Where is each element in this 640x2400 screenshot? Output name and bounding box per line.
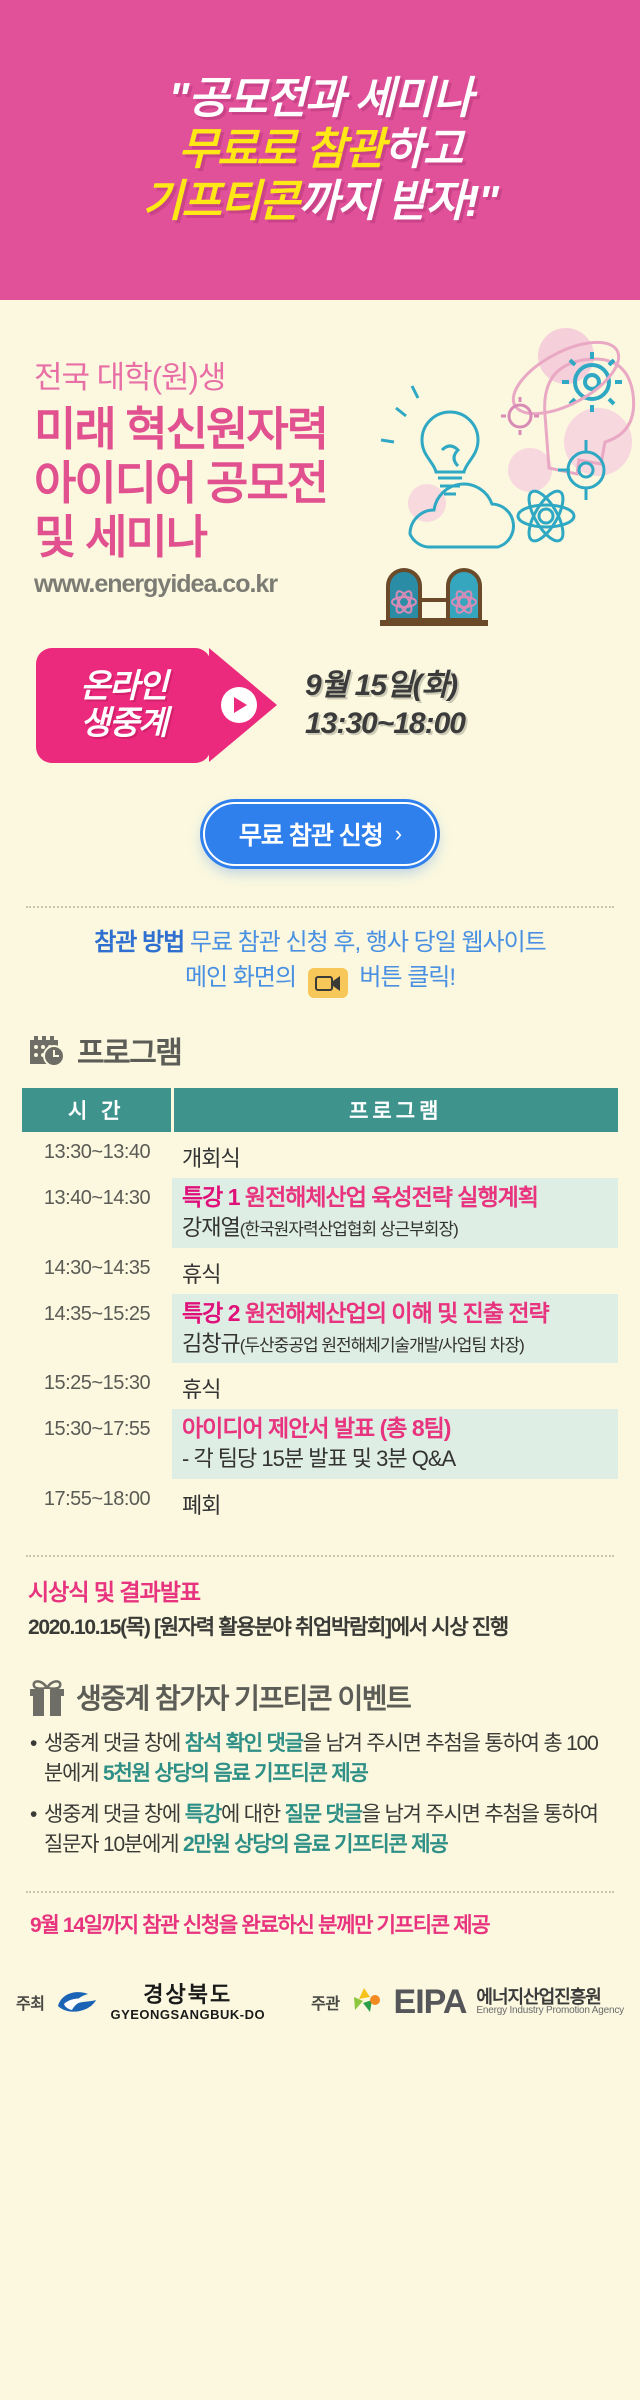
- row-time: 14:35~15:25: [22, 1294, 172, 1364]
- table-row: 14:30~14:35 휴식: [22, 1248, 618, 1294]
- row-time: 13:30~13:40: [22, 1132, 172, 1178]
- bullet-2-bold-1: 특강: [185, 1803, 221, 1826]
- row-title-text: 원전해체산업의 이해 및 진출 전략: [245, 1300, 549, 1326]
- main-title-line-2: 아이디어 공모전: [34, 457, 640, 511]
- host-name-en: GYEONGSANGBUK-DO: [110, 2008, 265, 2021]
- row-program: 특강 2 원전해체산업의 이해 및 진출 전략 김창규(두산중공업 원전해체기술…: [172, 1294, 618, 1364]
- play-triangle-shape: [209, 648, 277, 762]
- program-col-program: 프로그램: [172, 1088, 618, 1132]
- row-plain-text: 폐회: [182, 1484, 618, 1520]
- row-plain-text: 휴식: [182, 1253, 618, 1289]
- apply-button-label: 무료 참관 신청: [239, 816, 383, 852]
- row-label: 특강 2: [182, 1300, 240, 1326]
- live-date: 9월 15일(화): [305, 667, 465, 705]
- organizer-name-en: Energy Industry Promotion Agency: [476, 2006, 624, 2017]
- list-item: 생중계 댓글 창에 특강에 대한 질문 댓글을 남겨 주시면 추첨을 통하여 질…: [30, 1800, 614, 1861]
- row-plain-text: 휴식: [182, 1368, 618, 1404]
- calendar-clock-icon: [28, 1032, 68, 1068]
- row-speaker-name: 김창규: [182, 1331, 240, 1356]
- program-table-header: 시 간 프로그램: [22, 1088, 618, 1132]
- bullet-2-part-1: 생중계 댓글 창에: [44, 1803, 185, 1826]
- organizer-org: 주관 EIPA 에너지산업진흥원 Energy Industry Promoti…: [311, 1983, 624, 2022]
- table-row: 15:25~15:30 휴식: [22, 1363, 618, 1409]
- howto-text-2: 메인 화면의: [185, 964, 296, 991]
- host-role-label: 주최: [16, 1990, 44, 2014]
- howto-text-1: 무료 참관 신청 후, 행사 당일 웹사이트: [190, 929, 546, 956]
- organizer-abbr: EIPA: [394, 1983, 467, 2022]
- row-time: 15:30~17:55: [22, 1409, 172, 1479]
- row-speaker-name: 강재열: [182, 1215, 240, 1240]
- live-stream-row: 온라인 생중계 9월 15일(화) 13:30~18:00: [0, 630, 640, 780]
- video-camera-icon: [308, 968, 348, 998]
- bullet-1-part-1: 생중계 댓글 창에: [44, 1732, 185, 1755]
- organizer-names: 에너지산업진흥원 Energy Industry Promotion Agenc…: [476, 1988, 624, 2017]
- bullet-2-bold-3: 2만원 상당의 음료 기프티콘 제공: [183, 1833, 448, 1856]
- program-table: 시 간 프로그램 13:30~13:40 개회식 13:40~14:30 특강 …: [22, 1088, 618, 1525]
- host-org: 주최 경상북도 GYEONGSANGBUK-DO: [16, 1984, 265, 2021]
- row-time: 13:40~14:30: [22, 1178, 172, 1248]
- main-title-line-1: 미래 혁신원자력: [34, 403, 640, 457]
- live-badge-line-2: 생중계: [80, 705, 167, 742]
- row-title-text: 원전해체산업 육성전략 실행계획: [245, 1184, 538, 1210]
- row-plain-text: 개회식: [182, 1137, 618, 1173]
- row-title: 특강 1 원전해체산업 육성전략 실행계획: [182, 1183, 618, 1213]
- footer: 주최 경상북도 GYEONGSANGBUK-DO 주관 EIPA 에너지산업진흥…: [0, 1939, 640, 2022]
- bullet-2-part-2: 에 대한: [221, 1803, 285, 1826]
- hero-line-1: "공모전과 세미나: [169, 73, 472, 124]
- organizer-role-label: 주관: [311, 1990, 339, 2014]
- program-col-time: 시 간: [22, 1088, 172, 1132]
- row-time: 15:25~15:30: [22, 1363, 172, 1409]
- pre-title: 전국 대학(원)생: [34, 352, 640, 397]
- live-badge: 온라인 생중계: [36, 648, 211, 763]
- bullet-1-bold-2: 5천원 상당의 음료 기프티콘 제공: [103, 1762, 368, 1785]
- row-time: 17:55~18:00: [22, 1479, 172, 1525]
- row-label: 특강 1: [182, 1184, 240, 1210]
- table-row: 13:30~13:40 개회식: [22, 1132, 618, 1178]
- row-subnote: - 각 팀당 15분 발표 및 3분 Q&A: [182, 1444, 618, 1474]
- table-row: 14:35~15:25 특강 2 원전해체산업의 이해 및 진출 전략 김창규(…: [22, 1294, 618, 1364]
- eipa-mark-icon: [350, 1986, 384, 2018]
- row-program: 휴식: [172, 1248, 618, 1294]
- table-row: 17:55~18:00 폐회: [22, 1479, 618, 1525]
- play-icon: [221, 687, 257, 723]
- bullet-2-bold-2: 질문 댓글: [285, 1803, 362, 1826]
- hero-line-3-highlight: 기프티콘: [142, 177, 298, 226]
- row-title: 아이디어 제안서 발표 (총 8팀): [182, 1414, 618, 1444]
- howto-line-2: 메인 화면의 버튼 클릭!: [22, 961, 618, 999]
- gift-section-title: 생중계 참가자 기프티콘 이벤트: [76, 1677, 410, 1717]
- howto-section: 참관 방법 무료 참관 신청 후, 행사 당일 웹사이트 메인 화면의 버튼 클…: [0, 908, 640, 998]
- hero-line-2-rest: 하고: [384, 125, 462, 174]
- live-time: 13:30~18:00: [305, 705, 465, 743]
- row-title: 특강 2 원전해체산업의 이해 및 진출 전략: [182, 1299, 618, 1329]
- row-speaker: 김창규(두산중공업 원전해체기술개발/사업팀 차장): [182, 1329, 618, 1359]
- list-item: 생중계 댓글 창에 참석 확인 댓글을 남겨 주시면 추첨을 통하여 총 100…: [30, 1729, 614, 1790]
- host-logo-text: 경상북도 GYEONGSANGBUK-DO: [110, 1984, 265, 2021]
- row-time: 14:30~14:35: [22, 1248, 172, 1294]
- row-program: 휴식: [172, 1363, 618, 1409]
- apply-button-row: 무료 참관 신청 ›: [0, 780, 640, 876]
- bullet-1-bold-1: 참석 확인 댓글: [185, 1732, 303, 1755]
- gift-bullets: 생중계 댓글 창에 참석 확인 댓글을 남겨 주시면 추첨을 통하여 총 100…: [0, 1723, 640, 1861]
- row-program: 폐회: [172, 1479, 618, 1525]
- row-title-text: 아이디어 제안서 발표 (총 8팀): [182, 1415, 450, 1441]
- program-section-title: 프로그램: [77, 1028, 181, 1072]
- live-badge-line-1: 온라인: [80, 668, 167, 705]
- hero-banner: "공모전과 세미나 무료로 참관하고 기프티콘까지 받자!": [0, 0, 640, 300]
- row-speaker: 강재열(한국원자력산업협회 상근부회장): [182, 1213, 618, 1243]
- award-detail: 2020.10.15(목) [원자력 활용분야 취업박람회]에서 시상 진행: [28, 1611, 612, 1641]
- main-title-line-3: 및 세미나: [34, 511, 640, 565]
- gift-box-icon: [28, 1677, 66, 1717]
- table-row: 15:30~17:55 아이디어 제안서 발표 (총 8팀) - 각 팀당 15…: [22, 1409, 618, 1479]
- gift-notice: 9월 14일까지 참관 신청을 완료하신 분께만 기프티콘 제공: [0, 1893, 640, 1939]
- howto-text-3: 버튼 클릭!: [359, 964, 455, 991]
- award-section: 시상식 및 결과발표 2020.10.15(목) [원자력 활용분야 취업박람회…: [0, 1557, 640, 1641]
- chevron-right-icon: ›: [395, 821, 401, 847]
- title-block: 전국 대학(원)생 미래 혁신원자력 아이디어 공모전 및 세미나 www.en…: [0, 300, 640, 640]
- live-schedule: 9월 15일(화) 13:30~18:00: [305, 667, 465, 744]
- row-speaker-affiliation: (두산중공업 원전해체기술개발/사업팀 차장): [240, 1336, 524, 1355]
- row-program: 개회식: [172, 1132, 618, 1178]
- row-program: 특강 1 원전해체산업 육성전략 실행계획 강재열(한국원자력산업협회 상근부회…: [172, 1178, 618, 1248]
- row-program: 아이디어 제안서 발표 (총 8팀) - 각 팀당 15분 발표 및 3분 Q&…: [172, 1409, 618, 1479]
- hero-line-2-highlight: 무료로 참관: [178, 125, 384, 174]
- hero-line-3: 기프티콘까지 받자!": [142, 176, 497, 227]
- site-url: www.energyidea.co.kr: [34, 570, 640, 599]
- row-speaker-affiliation: (한국원자력산업협회 상근부회장): [240, 1220, 458, 1239]
- hero-line-3-rest: 까지 받자!": [298, 177, 497, 226]
- apply-button[interactable]: 무료 참관 신청 ›: [203, 802, 437, 866]
- program-heading: 프로그램: [0, 998, 640, 1084]
- award-heading: 시상식 및 결과발표: [28, 1573, 612, 1607]
- gyeongsangbuk-do-logo-icon: [54, 1986, 100, 2018]
- howto-label: 참관 방법: [94, 929, 184, 956]
- gift-heading-row: 생중계 참가자 기프티콘 이벤트: [0, 1641, 640, 1723]
- hero-line-2: 무료로 참관하고: [178, 124, 462, 175]
- howto-line-1: 참관 방법 무료 참관 신청 후, 행사 당일 웹사이트: [22, 926, 618, 961]
- host-name-kr: 경상북도: [143, 1984, 232, 2006]
- table-row: 13:40~14:30 특강 1 원전해체산업 육성전략 실행계획 강재열(한국…: [22, 1178, 618, 1248]
- organizer-name-kr: 에너지산업진흥원: [476, 1988, 624, 2007]
- main-title: 미래 혁신원자력 아이디어 공모전 및 세미나: [34, 403, 640, 564]
